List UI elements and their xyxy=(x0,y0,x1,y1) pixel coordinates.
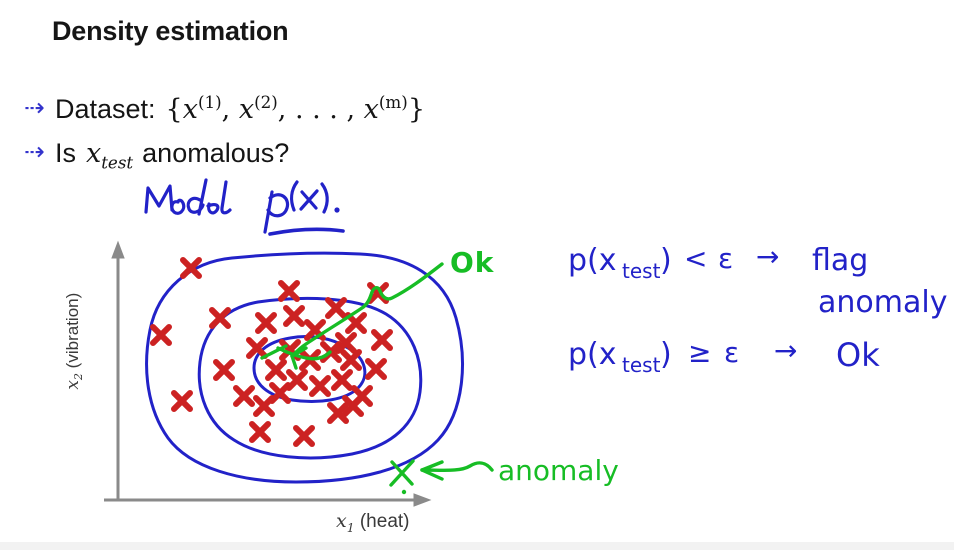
data-point-cross xyxy=(338,335,354,351)
ok-callout-label: Ok xyxy=(450,246,495,279)
y-axis-unit: (vibration) xyxy=(63,293,82,369)
data-point-cross xyxy=(307,322,323,338)
data-point-cross xyxy=(348,315,364,331)
dataset-math: {x(1), x(2), . . . , x(m)} xyxy=(166,92,425,125)
bullet-anomalous-label: anomalous? xyxy=(142,138,289,169)
ink-layer: Ok anomaly p(x test ) < ε → flag anomaly xyxy=(0,0,954,550)
x-test-math: xtest xyxy=(86,138,133,172)
equation-row-2: p(x test ) ≥ ε → Ok xyxy=(568,334,880,377)
math-exp-2: (2) xyxy=(254,92,278,112)
arrow-bullet-icon: ⇢ xyxy=(24,139,45,164)
math-comma-1: , xyxy=(222,94,231,125)
data-point-cross xyxy=(354,388,370,404)
data-point-cross xyxy=(323,344,339,360)
eq1-lhs: p(x xyxy=(568,243,617,278)
math-exp-m: (m) xyxy=(379,92,408,112)
math-x-m: x xyxy=(364,94,379,125)
data-points xyxy=(153,260,390,444)
data-point-cross xyxy=(216,362,232,378)
x-axis-label: x1 (heat) xyxy=(336,510,410,535)
arrow-bullet-icon: ⇢ xyxy=(24,95,45,120)
eq1-lhs-close: ) xyxy=(660,243,672,278)
data-point-cross xyxy=(256,398,272,414)
eq2-lhs-close: ) xyxy=(660,337,672,372)
equation-row-1: p(x test ) < ε → flag anomaly xyxy=(568,240,947,320)
data-point-cross xyxy=(258,315,274,331)
bullet-is-label: Is xyxy=(55,138,76,169)
x-test-var: x xyxy=(86,138,101,169)
ok-callout-arrow xyxy=(262,264,442,368)
data-point-cross xyxy=(252,424,268,440)
data-point-cross xyxy=(153,327,169,343)
contour-inner xyxy=(254,336,365,401)
data-point-cross xyxy=(282,342,298,358)
data-point-cross xyxy=(368,361,384,377)
data-point-cross xyxy=(212,310,228,326)
math-open-brace: { xyxy=(166,94,183,125)
bottom-strip xyxy=(0,542,954,550)
eq1-result-anomaly: anomaly xyxy=(818,285,947,320)
bullet-is-anomalous: ⇢ Is xtest anomalous? xyxy=(24,138,289,172)
eq1-arrow-icon: → xyxy=(756,240,779,273)
eq2-threshold: ε xyxy=(724,336,739,369)
data-point-cross xyxy=(296,428,312,444)
math-exp-1: (1) xyxy=(198,92,222,112)
math-x-1: x xyxy=(183,94,198,125)
data-point-cross xyxy=(183,260,199,276)
eq2-lhs-subscript: test xyxy=(622,353,661,377)
eq1-result-flag: flag xyxy=(812,243,868,278)
anomaly-callout xyxy=(391,461,492,494)
data-point-cross xyxy=(281,283,297,299)
bullet-dataset: ⇢ Dataset: {x(1), x(2), . . . , x(m)} xyxy=(24,92,425,125)
contour-outer xyxy=(147,253,463,482)
anomaly-callout-label: anomaly xyxy=(498,454,619,487)
eq2-result-ok: Ok xyxy=(836,336,880,374)
page-title: Density estimation xyxy=(52,16,288,47)
y-axis-label: x2 (vibration) xyxy=(63,261,85,421)
data-point-cross xyxy=(328,300,344,316)
plot-axes xyxy=(104,242,430,506)
eq1-lhs-subscript: test xyxy=(622,259,661,283)
data-point-cross xyxy=(370,285,386,301)
data-point-cross xyxy=(302,352,318,368)
data-point-cross xyxy=(334,372,350,388)
density-contours xyxy=(147,253,463,482)
data-point-cross xyxy=(268,362,284,378)
y-axis-sub: 2 xyxy=(72,373,85,380)
eq1-threshold: ε xyxy=(718,242,733,275)
data-point-cross xyxy=(174,393,190,409)
y-axis-arrowhead xyxy=(112,242,124,258)
x-axis-unit: (heat) xyxy=(360,511,410,532)
slide-canvas: Density estimation ⇢ Dataset: {x(1), x(2… xyxy=(0,0,954,550)
data-point-cross xyxy=(312,378,328,394)
handwriting-model-px xyxy=(146,180,343,234)
bullet-dataset-label: Dataset: xyxy=(55,94,156,125)
data-point-cross xyxy=(236,388,252,404)
x-test-subscript: test xyxy=(101,152,133,172)
x-axis-sub: 1 xyxy=(347,521,355,535)
eq2-arrow-icon: → xyxy=(774,334,797,367)
x-axis-var: x xyxy=(336,510,347,532)
data-point-cross xyxy=(289,372,305,388)
data-point-cross xyxy=(249,340,265,356)
data-point-cross xyxy=(286,308,302,324)
eq2-relation: ≥ xyxy=(688,336,711,369)
data-point-cross xyxy=(343,352,359,368)
eq2-lhs: p(x xyxy=(568,337,617,372)
y-axis-var: x xyxy=(63,380,83,390)
data-point-cross xyxy=(345,398,361,414)
x-axis-arrowhead xyxy=(414,494,430,506)
math-close-brace: } xyxy=(408,94,425,125)
equation-block: p(x test ) < ε → flag anomaly p(x test )… xyxy=(568,240,947,377)
math-dots: , . . . , xyxy=(278,94,355,125)
contour-middle xyxy=(199,298,421,458)
data-point-cross xyxy=(272,385,288,401)
eq1-relation: < xyxy=(684,242,707,275)
data-point-cross xyxy=(330,405,346,421)
math-x-2: x xyxy=(239,94,254,125)
data-point-cross xyxy=(374,332,390,348)
